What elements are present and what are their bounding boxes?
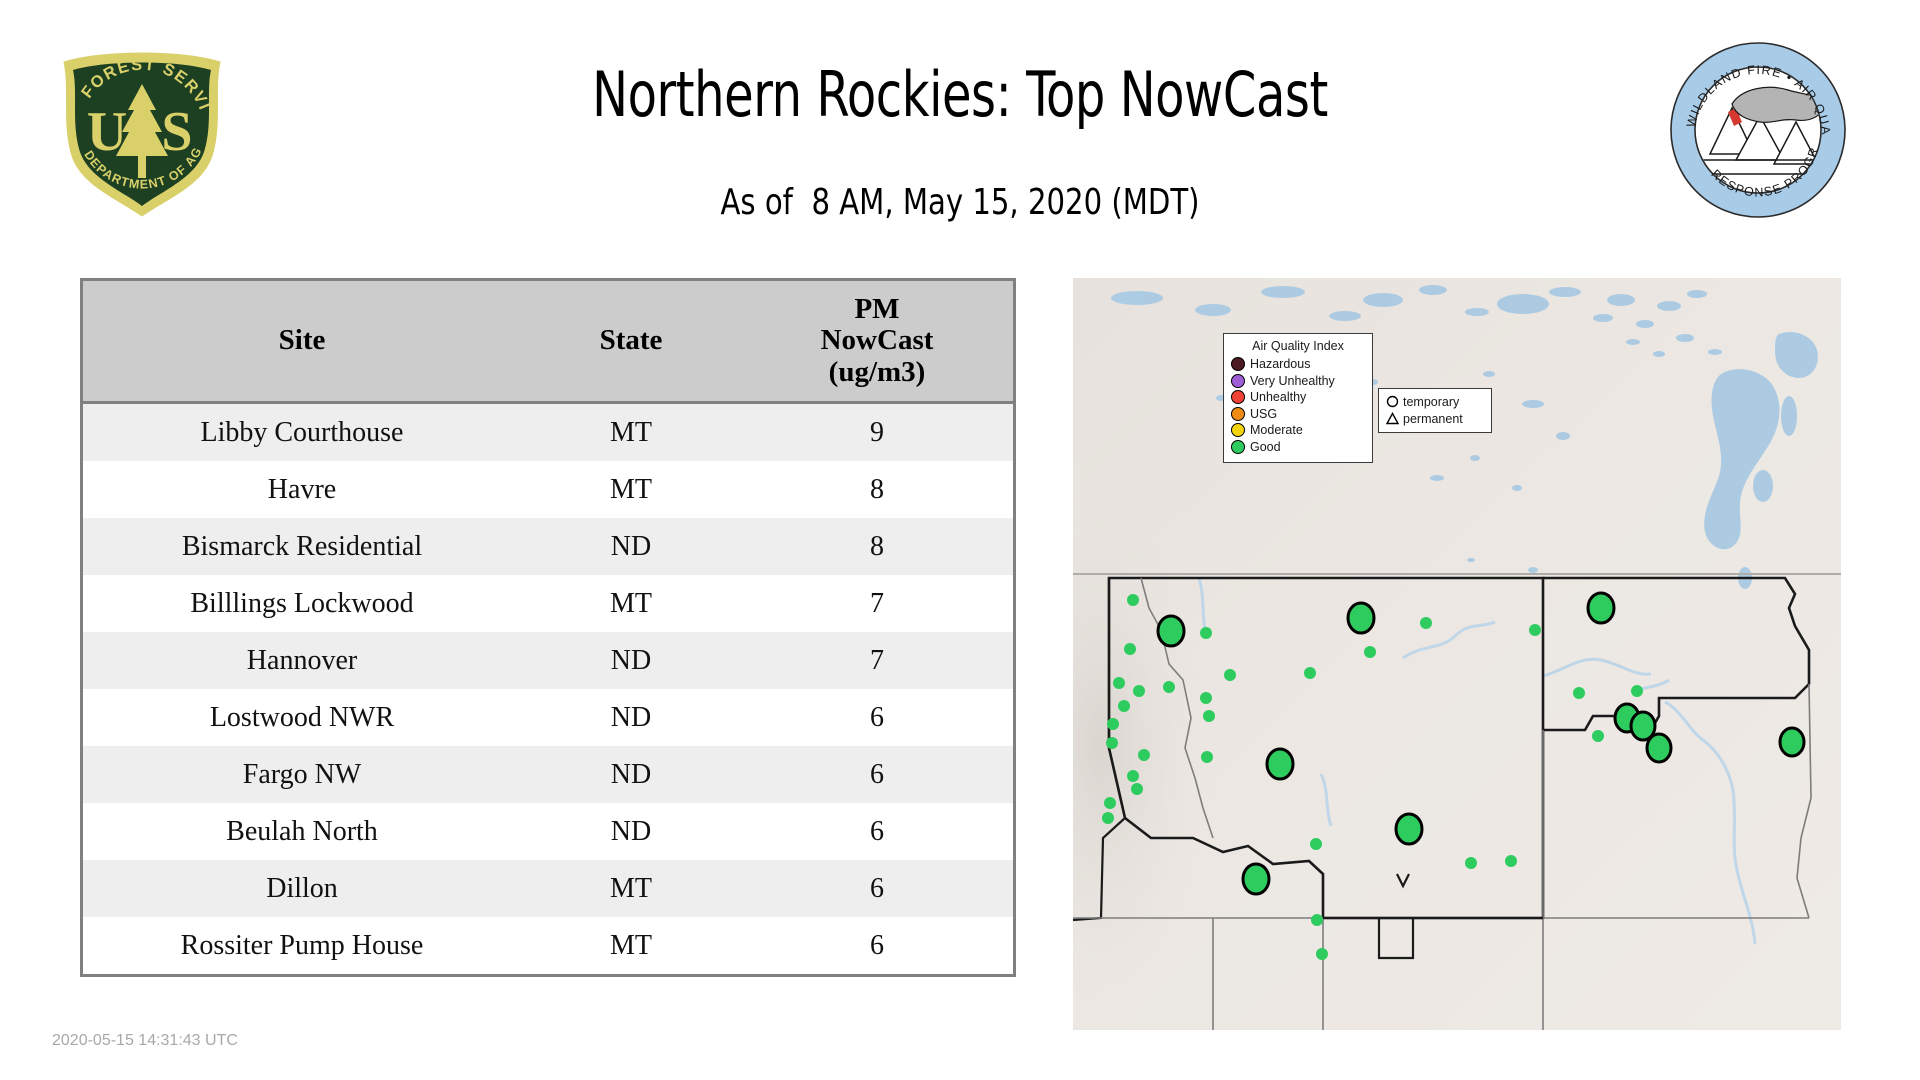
aqi-legend-items: HazardousVery UnhealthyUnhealthyUSGModer… [1231,356,1365,455]
site-cell: Havre [82,461,522,518]
monitor-marker-small[interactable] [1106,737,1118,749]
pm-cell: 8 [741,518,1015,575]
page-title: Northern Rockies: Top NowCast [358,58,1562,131]
pm-cell: 6 [741,803,1015,860]
monitor-marker-large[interactable] [1267,749,1293,779]
site-cell: Beulah North [82,803,522,860]
triangle-outline-icon [1385,411,1400,426]
aqi-color-swatch-icon [1231,423,1245,437]
monitor-marker-small[interactable] [1505,855,1517,867]
monitor-marker-small[interactable] [1364,646,1376,658]
site-cell: Bismarck Residential [82,518,522,575]
monitor-marker-small[interactable] [1311,914,1323,926]
monitor-marker-small[interactable] [1102,812,1114,824]
table-row: Billlings LockwoodMT7 [82,575,1015,632]
state-cell: ND [521,518,741,575]
us-forest-service-shield-logo: U S FOREST SERVICE DEPARTMENT OF AGRICUL… [52,28,232,218]
pm-header-line-1: PM [745,294,1009,325]
pm-cell: 7 [741,575,1015,632]
monitor-marker-small[interactable] [1113,677,1125,689]
column-header-site: Site [82,280,522,403]
state-cell: ND [521,746,741,803]
monitor-marker-small[interactable] [1138,749,1150,761]
pm-header-line-2: NowCast [745,325,1009,356]
monitor-marker-small[interactable] [1127,594,1139,606]
aqi-color-swatch-icon [1231,374,1245,388]
monitor-marker-small[interactable] [1465,857,1477,869]
aqi-legend-row: Moderate [1231,422,1365,439]
site-type-permanent: permanent [1385,410,1485,427]
pm-cell: 8 [741,461,1015,518]
monitor-marker-small[interactable] [1420,617,1432,629]
monitor-marker-small[interactable] [1304,667,1316,679]
site-cell: Hannover [82,632,522,689]
wfaqrp-seal-logo: WILDLAND FIRE • AIR QUALITY RESPONSE PRO… [1670,42,1846,218]
table-row: Beulah NorthND6 [82,803,1015,860]
aqi-legend-label: Hazardous [1250,357,1310,371]
table-row: HavreMT8 [82,461,1015,518]
state-cell: ND [521,803,741,860]
page-header: U S FOREST SERVICE DEPARTMENT OF AGRICUL… [0,0,1920,270]
pm-cell: 9 [741,403,1015,462]
table-row: Rossiter Pump HouseMT6 [82,917,1015,976]
aqi-legend-row: Good [1231,439,1365,456]
aqi-legend-label: Moderate [1250,423,1303,437]
monitor-marker-small[interactable] [1529,624,1541,636]
table-row: Bismarck ResidentialND8 [82,518,1015,575]
monitor-marker-small[interactable] [1573,687,1585,699]
table-row: DillonMT6 [82,860,1015,917]
air-quality-map[interactable]: Air Quality Index HazardousVery Unhealth… [1073,278,1841,1030]
site-cell: Rossiter Pump House [82,917,522,976]
site-cell: Lostwood NWR [82,689,522,746]
site-cell: Fargo NW [82,746,522,803]
monitor-marker-small[interactable] [1316,948,1328,960]
aqi-legend-label: Good [1250,440,1281,454]
air-quality-index-legend: Air Quality Index HazardousVery Unhealth… [1223,333,1373,463]
state-cell: MT [521,917,741,976]
table-row: Fargo NWND6 [82,746,1015,803]
monitor-marker-small[interactable] [1131,783,1143,795]
monitor-marker-large[interactable] [1780,728,1804,756]
aqi-color-swatch-icon [1231,440,1245,454]
aqi-color-swatch-icon [1231,407,1245,421]
state-cell: ND [521,689,741,746]
aqi-legend-title: Air Quality Index [1231,339,1365,353]
site-cell: Billlings Lockwood [82,575,522,632]
state-cell: MT [521,860,741,917]
pm-cell: 6 [741,860,1015,917]
monitor-marker-small[interactable] [1163,681,1175,693]
monitor-marker-small[interactable] [1118,700,1130,712]
aqi-color-swatch-icon [1231,357,1245,371]
monitor-marker-large[interactable] [1158,616,1184,646]
monitor-marker-small[interactable] [1631,685,1643,697]
monitor-marker-small[interactable] [1107,718,1119,730]
aqi-legend-row: Very Unhealthy [1231,373,1365,390]
pm-header-line-3: (ug/m3) [745,357,1009,388]
monitor-marker-small[interactable] [1224,669,1236,681]
pm-cell: 7 [741,632,1015,689]
site-cell: Libby Courthouse [82,403,522,462]
monitor-marker-large[interactable] [1588,593,1614,623]
aqi-legend-row: Unhealthy [1231,389,1365,406]
column-header-pm-nowcast: PM NowCast (ug/m3) [741,280,1015,403]
monitor-marker-small[interactable] [1310,838,1322,850]
site-type-temporary-label: temporary [1403,395,1459,409]
state-cell: MT [521,403,741,462]
monitor-marker-large[interactable] [1396,814,1422,844]
table-row: Libby CourthouseMT9 [82,403,1015,462]
nowcast-table-container: Site State PM NowCast (ug/m3) Libby Cour… [80,278,992,977]
footer-timestamp: 2020-05-15 14:31:43 UTC [52,1032,238,1050]
aqi-legend-row: Hazardous [1231,356,1365,373]
monitor-marker-small[interactable] [1200,627,1212,639]
state-cell: ND [521,632,741,689]
aqi-color-swatch-icon [1231,390,1245,404]
aqi-legend-label: Very Unhealthy [1250,374,1335,388]
site-type-permanent-label: permanent [1403,412,1463,426]
monitor-marker-small[interactable] [1592,730,1604,742]
monitor-marker-small[interactable] [1201,751,1213,763]
table-header-row: Site State PM NowCast (ug/m3) [82,280,1015,403]
site-type-temporary: temporary [1385,393,1485,410]
aqi-legend-label: USG [1250,407,1277,421]
table-row: Lostwood NWRND6 [82,689,1015,746]
monitor-marker-small[interactable] [1104,797,1116,809]
monitor-marker-large[interactable] [1348,603,1374,633]
site-cell: Dillon [82,860,522,917]
state-cell: MT [521,575,741,632]
monitor-marker-small[interactable] [1127,770,1139,782]
monitor-marker-large[interactable] [1647,734,1671,762]
page-subtitle: As of 8 AM, May 15, 2020 (MDT) [330,182,1590,223]
table-row: HannoverND7 [82,632,1015,689]
aqi-legend-row: USG [1231,406,1365,423]
monitor-marker-small[interactable] [1133,685,1145,697]
nowcast-table: Site State PM NowCast (ug/m3) Libby Cour… [80,278,1016,977]
monitor-marker-small[interactable] [1203,710,1215,722]
site-type-legend: temporary permanent [1378,388,1492,433]
aqi-legend-label: Unhealthy [1250,390,1306,404]
circle-outline-icon [1385,394,1400,409]
state-cell: MT [521,461,741,518]
monitor-marker-small[interactable] [1200,692,1212,704]
monitor-marker-large[interactable] [1243,864,1269,894]
column-header-state: State [521,280,741,403]
monitor-marker-small[interactable] [1124,643,1136,655]
pm-cell: 6 [741,746,1015,803]
pm-cell: 6 [741,917,1015,976]
table-body: Libby CourthouseMT9HavreMT8Bismarck Resi… [82,403,1015,976]
pm-cell: 6 [741,689,1015,746]
